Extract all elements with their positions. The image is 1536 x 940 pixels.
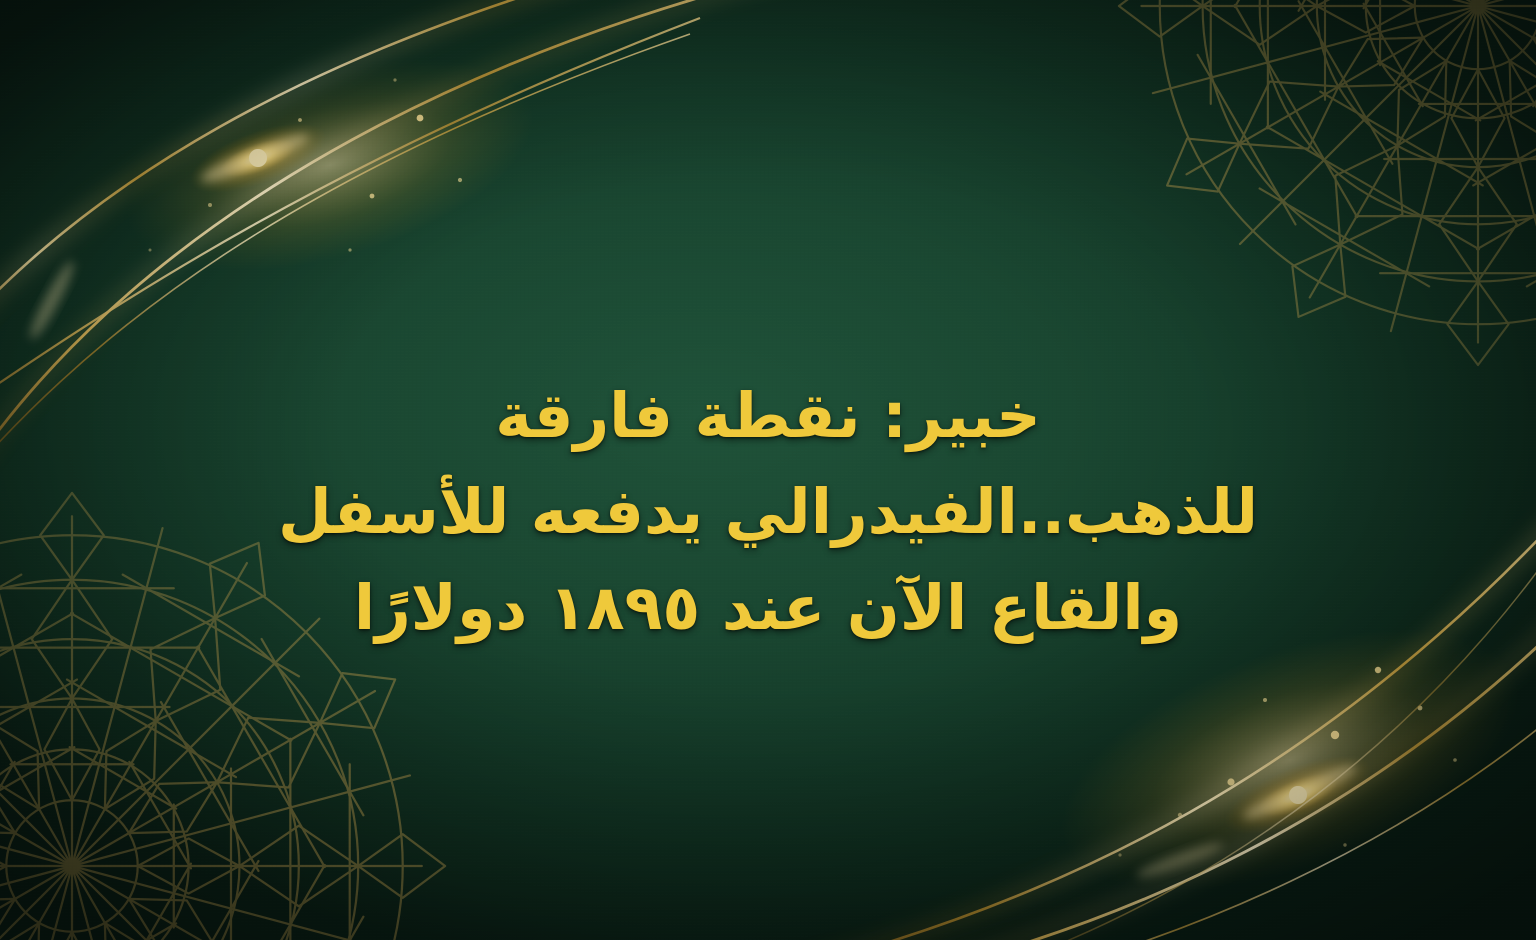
headline-line-2: للذهب..الفيدرالي يدفعه للأسفل — [180, 464, 1356, 560]
headline: خبير: نقطة فارقة للذهب..الفيدرالي يدفعه … — [0, 368, 1536, 656]
headline-line-1: خبير: نقطة فارقة — [180, 368, 1356, 464]
ornament-top-right-icon — [1119, 0, 1536, 365]
headline-line-3: والقاع الآن عند ١٨٩٥ دولارًا — [180, 560, 1356, 656]
news-card-canvas: خبير: نقطة فارقة للذهب..الفيدرالي يدفعه … — [0, 0, 1536, 940]
sparkle-cluster-top-left-icon — [103, 19, 557, 312]
